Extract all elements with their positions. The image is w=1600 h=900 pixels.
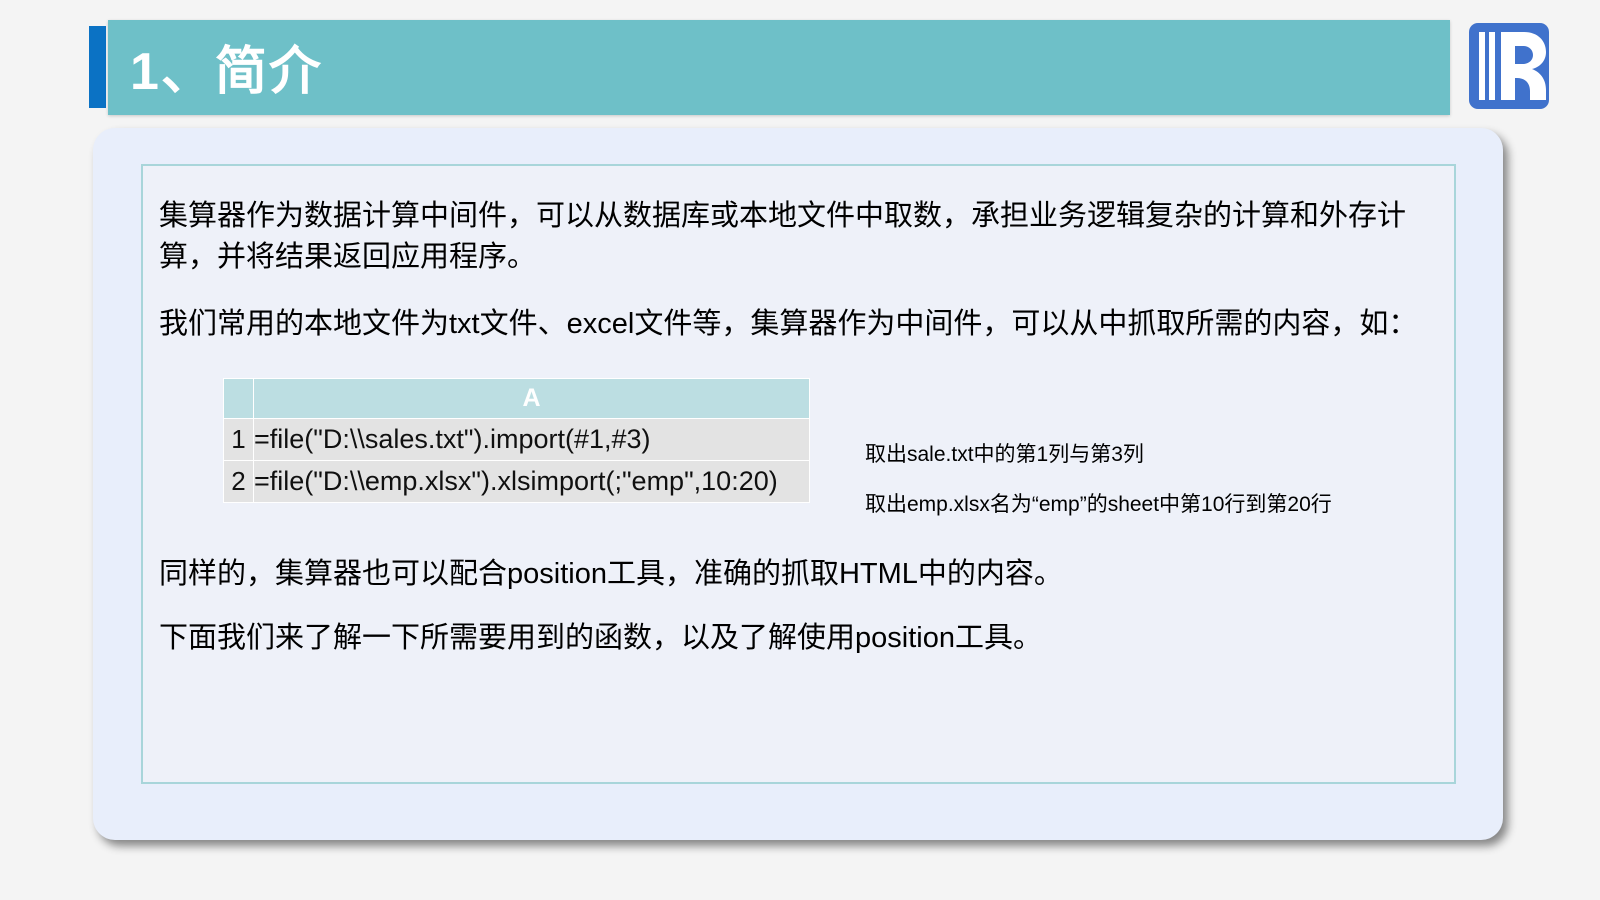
table-column-header-a: A (254, 379, 810, 419)
table-corner-cell (224, 379, 254, 419)
row-number-1: 1 (224, 419, 254, 461)
row-number-2: 2 (224, 461, 254, 503)
paragraph-local-files: 我们常用的本地文件为txt文件、excel文件等，集算器作为中间件，可以从中抓取… (159, 304, 1449, 345)
title-banner: 1、简介 (108, 20, 1450, 115)
annotation-row-1: 取出sale.txt中的第1列与第3列 (865, 438, 1144, 468)
table-row: 1 =file("D:\\sales.txt").import(#1,#3) (224, 419, 810, 461)
formula-cell-a2: =file("D:\\emp.xlsx").xlsimport(;"emp",1… (254, 461, 810, 503)
raqsoft-logo-icon (1468, 22, 1550, 110)
table-header-row: A (224, 379, 810, 419)
paragraph-intro: 集算器作为数据计算中间件，可以从数据库或本地文件中取数，承担业务逻辑复杂的计算和… (159, 196, 1449, 278)
title-accent-bar (89, 26, 106, 108)
content-panel: 集算器作为数据计算中间件，可以从数据库或本地文件中取数，承担业务逻辑复杂的计算和… (93, 128, 1503, 840)
annotation-row-2: 取出emp.xlsx名为“emp”的sheet中第10行到第20行 (865, 488, 1332, 518)
paragraph-next-steps: 下面我们来了解一下所需要用到的函数，以及了解使用position工具。 (159, 618, 1449, 659)
content-inner-frame: 集算器作为数据计算中间件，可以从数据库或本地文件中取数，承担业务逻辑复杂的计算和… (141, 164, 1456, 784)
slide-root: 1、简介 集算器作为数据计算中间件，可以从数据库或本地文件中取数，承担业务逻辑复… (0, 0, 1600, 900)
paragraph-position-tool: 同样的，集算器也可以配合position工具，准确的抓取HTML中的内容。 (159, 554, 1449, 595)
formula-table: A 1 =file("D:\\sales.txt").import(#1,#3)… (223, 378, 810, 503)
formula-cell-a1: =file("D:\\sales.txt").import(#1,#3) (254, 419, 810, 461)
page-title: 1、简介 (130, 29, 323, 104)
table-row: 2 =file("D:\\emp.xlsx").xlsimport(;"emp"… (224, 461, 810, 503)
